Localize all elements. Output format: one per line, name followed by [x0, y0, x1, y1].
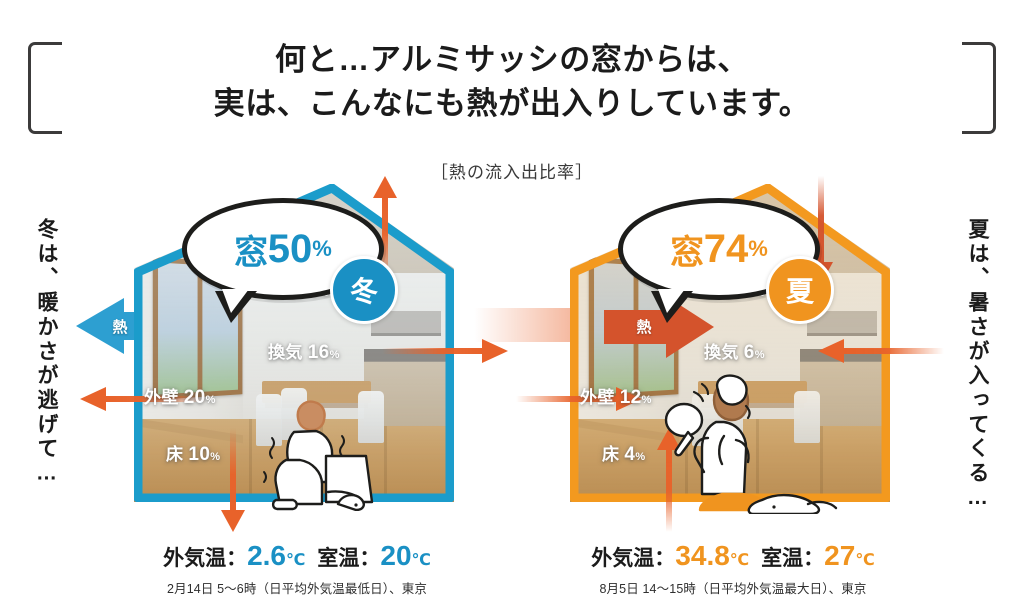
- summer-outdoor-unit: ℃: [730, 552, 749, 569]
- infographic-canvas: 何と…アルミサッシの窓からは、 実は、こんなにも熱が出入りしています。 ［熱の流…: [0, 0, 1024, 616]
- summer-season-badge: 夏: [766, 256, 834, 324]
- winter-outdoor-value: 2.6: [247, 540, 286, 571]
- winter-outdoor-label: 外気温：: [163, 547, 247, 570]
- title-line-2: 実は、こんなにも熱が出入りしています。: [0, 82, 1024, 126]
- winter-side-caption: 冬は、暖かさが逃げて…: [36, 218, 57, 488]
- summer-footer-note: 8月5日 14〜15時（日平均外気温最大日）、東京: [518, 578, 948, 597]
- summer-bubble-label: 窓: [670, 225, 704, 274]
- summer-panel: 熱: [518, 178, 948, 508]
- winter-footer-note: 2月14日 5〜6時（日平均外気温最低日）、東京: [82, 578, 512, 597]
- summer-temperatures: 外気温：34.8℃室温：27℃: [518, 540, 948, 572]
- summer-label-wall-unit: %: [642, 394, 652, 406]
- title-line-1: 何と…アルミサッシの窓からは、: [0, 38, 1024, 82]
- winter-label-wall-name: 外壁: [144, 388, 179, 407]
- winter-label-wall: 外壁 20%: [144, 383, 216, 409]
- winter-label-vent-unit: %: [330, 349, 340, 361]
- winter-indoor-value: 20: [380, 540, 411, 571]
- summer-label-floor-value: 4: [624, 444, 635, 465]
- winter-footer: 外気温：2.6℃室温：20℃ 2月14日 5〜6時（日平均外気温最低日）、東京: [82, 540, 512, 597]
- winter-label-floor-name: 床: [166, 445, 183, 464]
- winter-panel: 熱: [82, 178, 512, 508]
- summer-bubble-tail: [651, 291, 693, 323]
- winter-label-floor-value: 10: [188, 444, 210, 465]
- summer-vent-arrow: [818, 338, 944, 364]
- winter-person-sketch: [242, 396, 392, 511]
- summer-label-wall-name: 外壁: [580, 388, 615, 407]
- winter-bubble-label: 窓: [234, 225, 268, 274]
- winter-bubble-unit: %: [312, 236, 332, 262]
- winter-label-wall-value: 20: [184, 387, 206, 408]
- summer-label-vent-value: 6: [744, 342, 755, 363]
- summer-label-vent-unit: %: [755, 349, 765, 361]
- winter-indoor-unit: ℃: [412, 552, 431, 569]
- winter-label-wall-unit: %: [206, 394, 216, 406]
- summer-indoor-label: 室温：: [761, 547, 824, 570]
- winter-label-floor-unit: %: [210, 451, 220, 463]
- winter-bubble-tail: [215, 291, 257, 323]
- summer-label-floor-name: 床: [602, 445, 619, 464]
- summer-indoor-unit: ℃: [855, 552, 874, 569]
- summer-bubble-value: 74: [704, 227, 749, 272]
- winter-season-badge: 冬: [330, 256, 398, 324]
- summer-outdoor-value: 34.8: [675, 540, 730, 571]
- winter-outdoor-unit: ℃: [286, 552, 305, 569]
- winter-label-vent-value: 16: [308, 342, 330, 363]
- summer-side-caption: 夏は、暑さが入ってくる…: [967, 218, 988, 512]
- summer-outdoor-label: 外気温：: [591, 547, 675, 570]
- page-title: 何と…アルミサッシの窓からは、 実は、こんなにも熱が出入りしています。: [0, 38, 1024, 126]
- summer-footer: 外気温：34.8℃室温：27℃ 8月5日 14〜15時（日平均外気温最大日）、東…: [518, 540, 948, 597]
- summer-person-sketch: [658, 374, 858, 514]
- winter-indoor-label: 室温：: [317, 547, 380, 570]
- summer-label-wall-value: 12: [620, 387, 642, 408]
- summer-label-floor-unit: %: [635, 451, 645, 463]
- summer-indoor-value: 27: [824, 540, 855, 571]
- winter-label-floor: 床 10%: [166, 440, 220, 466]
- summer-bubble-unit: %: [748, 236, 768, 262]
- winter-temperatures: 外気温：2.6℃室温：20℃: [82, 540, 512, 572]
- winter-label-vent: 換気 16%: [268, 338, 340, 364]
- summer-label-wall: 外壁 12%: [580, 383, 652, 409]
- winter-bubble-value: 50: [268, 227, 313, 272]
- winter-label-vent-name: 換気: [268, 343, 303, 362]
- summer-label-floor: 床 4%: [602, 440, 645, 466]
